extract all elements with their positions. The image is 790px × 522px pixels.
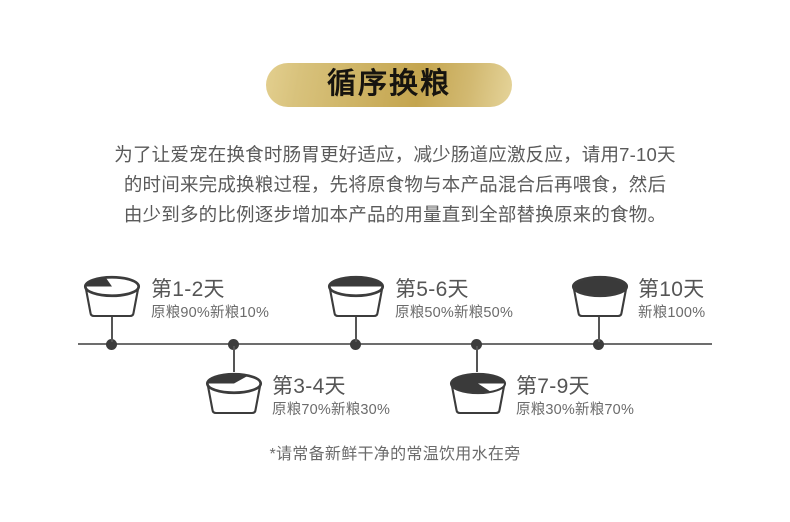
bowl-stage-2 [198, 372, 270, 416]
stage-ratio-5: 新粮100% [638, 304, 705, 323]
stage-ratio-2: 原粮70%新粮30% [272, 401, 390, 420]
stage-day-4: 第7-9天 [516, 375, 634, 399]
stage-day-2: 第3-4天 [272, 375, 390, 399]
timeline-axis [78, 343, 712, 345]
stage-label-3: 第5-6天 原粮50%新粮50% [395, 278, 513, 323]
intro-paragraph: 为了让爱宠在换食时肠胃更好适应，减少肠道应激反应，请用7-10天 的时间来完成换… [70, 140, 720, 230]
stage-label-1: 第1-2天 原粮90%新粮10% [151, 278, 269, 323]
bowl-stage-1 [76, 275, 148, 319]
stage-label-4: 第7-9天 原粮30%新粮70% [516, 375, 634, 420]
bowl-stage-3 [320, 275, 392, 319]
bowl-stage-5 [564, 275, 636, 319]
timeline-stem-2 [233, 346, 235, 372]
stage-ratio-1: 原粮90%新粮10% [151, 304, 269, 323]
timeline-stem-5 [598, 316, 600, 342]
intro-line-2: 的时间来完成换粮过程，先将原食物与本产品混合后再喂食，然后 [70, 170, 720, 200]
stage-day-1: 第1-2天 [151, 278, 269, 302]
bowl-stage-4 [442, 372, 514, 416]
stage-day-5: 第10天 [638, 278, 705, 302]
stage-ratio-3: 原粮50%新粮50% [395, 304, 513, 323]
timeline-stem-1 [111, 316, 113, 342]
footnote: *请常备新鲜干净的常温饮用水在旁 [0, 440, 790, 464]
timeline-stem-4 [476, 346, 478, 372]
timeline-stem-3 [355, 316, 357, 342]
stage-day-3: 第5-6天 [395, 278, 513, 302]
page-title: 循序换粮 [327, 70, 451, 101]
intro-line-1: 为了让爱宠在换食时肠胃更好适应，减少肠道应激反应，请用7-10天 [70, 140, 720, 170]
intro-line-3: 由少到多的比例逐步增加本产品的用量直到全部替换原来的食物。 [70, 200, 720, 230]
stage-ratio-4: 原粮30%新粮70% [516, 401, 634, 420]
stage-label-5: 第10天 新粮100% [638, 278, 705, 323]
page-title-pill: 循序换粮 [266, 63, 512, 107]
stage-label-2: 第3-4天 原粮70%新粮30% [272, 375, 390, 420]
